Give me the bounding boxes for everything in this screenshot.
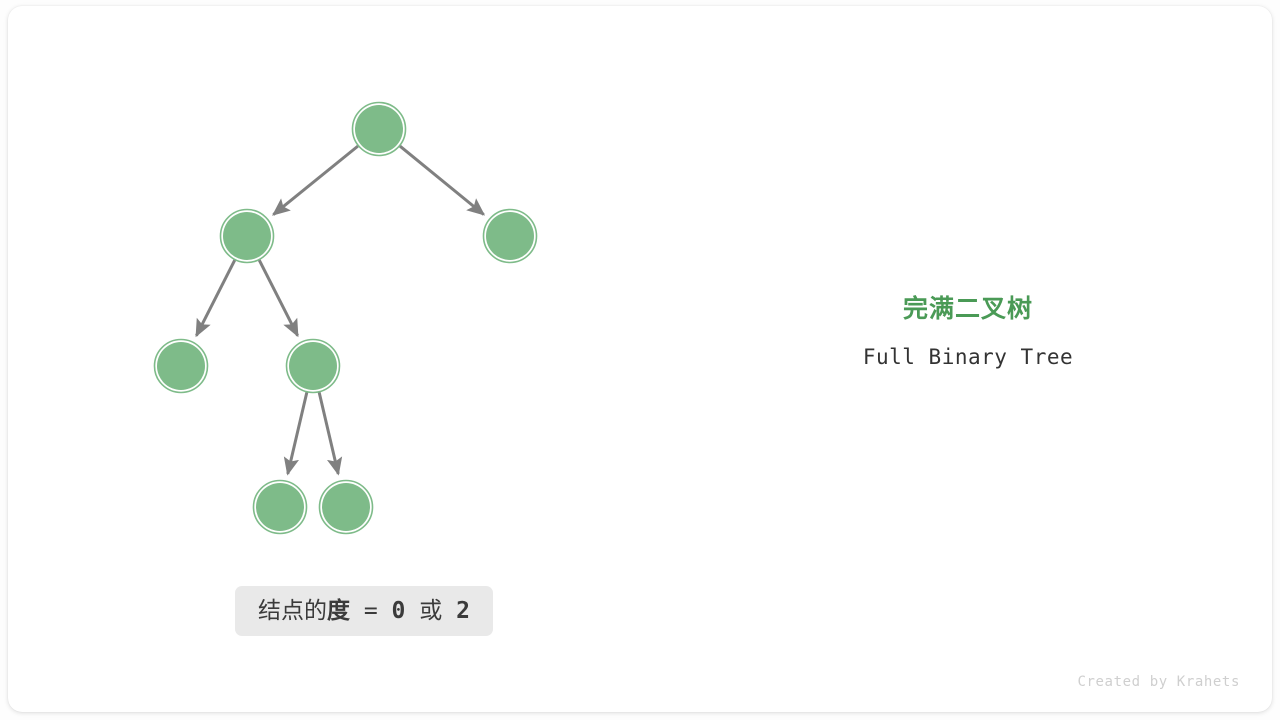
tree-edge-layer [196,146,483,474]
degree-rule-segment-5: 2 [456,598,470,624]
tree-edge [273,146,358,215]
watermark: Created by Krahets [1070,674,1240,690]
tree-node[interactable] [254,481,307,534]
page-title-en: Full Binary Tree [768,343,1168,371]
tree-node-fill [486,212,534,260]
tree-edge [400,146,484,214]
tree-node[interactable] [287,340,340,393]
degree-rule-segment-3: 0 [392,598,406,624]
tree-edge [196,260,234,336]
tree-node-fill [322,483,370,531]
page-title-cn: 完满二叉树 [768,292,1168,326]
degree-rule-segment-4: 或 [405,598,456,624]
tree-node-fill [289,342,337,390]
tree-node-fill [157,342,205,390]
tree-node-fill [355,105,403,153]
tree-node-fill [223,212,271,260]
degree-rule-segment-1: 度 [327,598,350,624]
tree-edge [259,260,297,336]
tree-node-layer [155,103,537,534]
tree-node[interactable] [353,103,406,156]
diagram-canvas: 完满二叉树 Full Binary Tree 结点的度 = 0 或 2 Crea… [0,0,1280,720]
tree-node-fill [256,483,304,531]
tree-node[interactable] [320,481,373,534]
tree-node[interactable] [484,210,537,263]
tree-node[interactable] [221,210,274,263]
degree-rule-segment-0: 结点的 [258,598,327,624]
tree-edge [319,392,338,474]
tree-edge [288,392,307,474]
degree-rule-segment-2: = [350,598,392,624]
title-block: 完满二叉树 Full Binary Tree [768,292,1168,371]
degree-rule-text: 结点的度 = 0 或 2 [258,586,470,636]
degree-rule-badge: 结点的度 = 0 或 2 [235,586,493,636]
tree-node[interactable] [155,340,208,393]
